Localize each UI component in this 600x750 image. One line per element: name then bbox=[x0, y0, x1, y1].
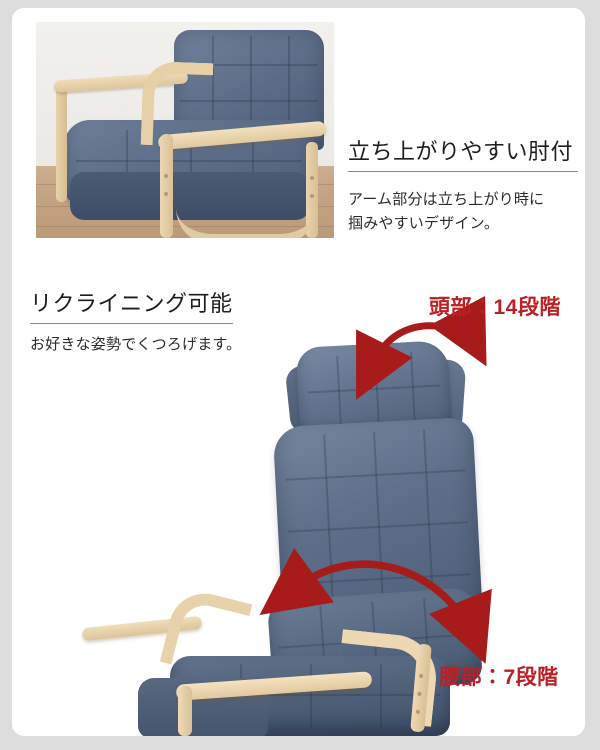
chair-arm-post bbox=[178, 686, 192, 736]
chair-rocker-base-top-photo bbox=[176, 208, 316, 238]
armrest-description-line-1: アーム部分は立ち上がり時に bbox=[348, 188, 585, 212]
armrest-description-line-2: 掴みやすいデザイン。 bbox=[348, 212, 585, 236]
callout-lumbar-label: 腰部：7段階 bbox=[439, 661, 559, 691]
lumbar-adjust-arrow-icon bbox=[284, 544, 524, 674]
armrest-photo bbox=[36, 22, 334, 238]
product-feature-card: 立ち上がりやすい肘付 アーム部分は立ち上がり時に 掴みやすいデザイン。 リクライ… bbox=[12, 8, 585, 736]
callout-headrest-label: 頭部：14段階 bbox=[429, 291, 561, 321]
reclining-heading: リクライニング可能 bbox=[30, 286, 233, 324]
armrest-heading: 立ち上がりやすい肘付 bbox=[348, 134, 578, 172]
chair-leg-near-top-photo bbox=[160, 134, 173, 238]
armrest-description: アーム部分は立ち上がり時に 掴みやすいデザイン。 bbox=[348, 188, 585, 236]
chair-leg-far-top-photo bbox=[56, 82, 67, 202]
